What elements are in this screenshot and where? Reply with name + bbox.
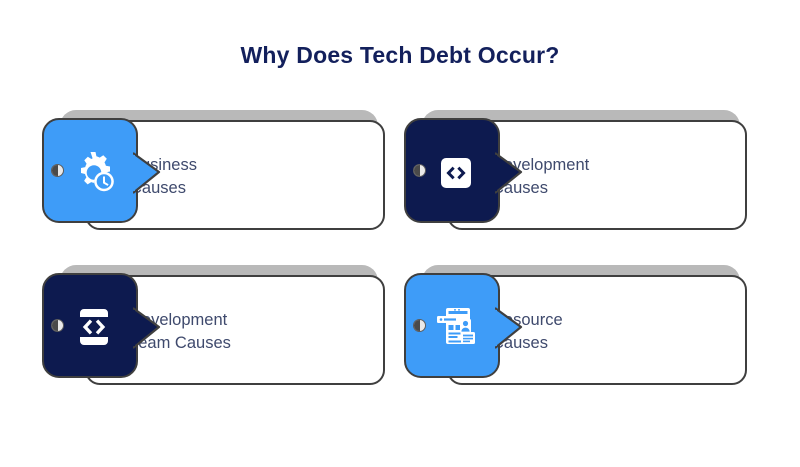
punch-hole-icon: [413, 164, 426, 177]
punch-hole-icon: [51, 319, 64, 332]
card-tag[interactable]: [404, 118, 500, 223]
page-title: Why Does Tech Debt Occur?: [0, 42, 800, 69]
punch-hole-icon: [51, 164, 64, 177]
tag-pointer-arrow: [495, 152, 525, 194]
card-tag[interactable]: [42, 118, 138, 223]
tag-pointer-arrow: [495, 307, 525, 349]
tag-pointer-arrow: [133, 152, 163, 194]
gear-clock-icon: [70, 147, 118, 197]
card-resource-causes[interactable]: Resource Causes: [404, 265, 749, 395]
card-development-causes[interactable]: Development Causes: [404, 110, 749, 240]
mobile-code-icon: [70, 302, 118, 352]
resource-documents-person-icon: [432, 302, 480, 352]
card-business-causes[interactable]: Business Causes: [42, 110, 387, 240]
tag-pointer-arrow: [133, 307, 163, 349]
card-development-team-causes[interactable]: Development Team Causes: [42, 265, 387, 395]
card-tag[interactable]: [404, 273, 500, 378]
code-brackets-icon: [432, 147, 480, 197]
punch-hole-icon: [413, 319, 426, 332]
card-tag[interactable]: [42, 273, 138, 378]
